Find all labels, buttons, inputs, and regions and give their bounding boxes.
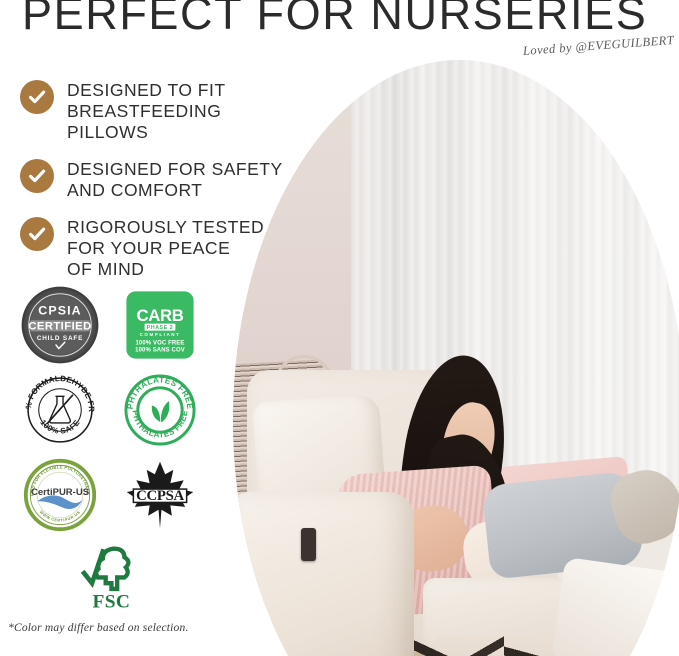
svg-text:CCPSA: CCPSA: [136, 488, 184, 504]
svg-text:100% SANS COV: 100% SANS COV: [135, 347, 185, 353]
throw-white: [552, 557, 673, 656]
feature-list: DESIGNED TO FIT BREASTFEEDING PILLOWS DE…: [20, 78, 290, 294]
svg-text:COMPLIANT: COMPLIANT: [140, 332, 181, 337]
svg-text:PHTHALATES FREE: PHTHALATES FREE: [126, 375, 195, 409]
recliner-mechanism-right: [504, 614, 549, 656]
carb-phase-2-badge: CARB PHASE 2 COMPLIANT 100% VOC FREE 100…: [110, 290, 210, 360]
svg-text:PHTHALATES FREE: PHTHALATES FREE: [130, 409, 189, 439]
cpsia-certified-badge: CPSIA CERTIFIED CHILD SAFE: [10, 285, 110, 365]
certipur-us-badge: CERTIFIED FOR FLEXIBLE POLYURETHANE FOAM…: [10, 457, 110, 533]
svg-text:CHILD SAFE: CHILD SAFE: [37, 335, 83, 342]
ccpsa-badge: CCPSA: [110, 458, 210, 532]
recliner-power-button: [301, 528, 316, 561]
feature-label: DESIGNED FOR SAFETY AND COMFORT: [67, 157, 283, 201]
svg-text:CertiPUR-US: CertiPUR-US: [31, 487, 89, 498]
photo-canvas: [233, 60, 679, 656]
certification-badges: CPSIA CERTIFIED CHILD SAFE CARB PHASE 2 …: [10, 282, 210, 615]
feature-item: DESIGNED FOR SAFETY AND COMFORT: [20, 157, 290, 201]
check-icon: [20, 80, 54, 114]
feature-item: RIGOROUSLY TESTED FOR YOUR PEACE OF MIND: [20, 215, 290, 280]
svg-text:CERTIFIED: CERTIFIED: [28, 320, 91, 332]
nursery-lifestyle-photo: [233, 60, 679, 656]
page-title: PERFECT FOR NURSERIES: [22, 0, 647, 40]
recliner-armrest: [233, 492, 414, 656]
check-icon: [20, 217, 54, 251]
svg-text:CARB: CARB: [136, 305, 183, 324]
svg-text:CPSIA: CPSIA: [38, 303, 81, 317]
fsc-badge: FSC: [60, 540, 160, 612]
badge-row: 100% FORMALDEHYDE FREE 100% SAFE: [10, 367, 210, 452]
recliner-mechanism: [414, 622, 504, 656]
feature-item: DESIGNED TO FIT BREASTFEEDING PILLOWS: [20, 78, 290, 143]
promo-banner: PERFECT FOR NURSERIES Loved by @EVEGUILB…: [0, 0, 679, 656]
svg-text:100% VOC FREE: 100% VOC FREE: [135, 340, 184, 346]
badge-row: FSC: [10, 537, 210, 615]
svg-text:100% FORMALDEHYDE FREE: 100% FORMALDEHYDE FREE: [22, 372, 96, 412]
phthalates-free-badge: PHTHALATES FREE PHTHALATES FREE: [110, 373, 210, 447]
feature-label: DESIGNED TO FIT BREASTFEEDING PILLOWS: [67, 78, 290, 143]
svg-text:PHASE 2: PHASE 2: [147, 325, 173, 331]
svg-text:100% SAFE: 100% SAFE: [38, 418, 82, 436]
badge-row: CPSIA CERTIFIED CHILD SAFE CARB PHASE 2 …: [10, 282, 210, 367]
svg-text:FSC: FSC: [93, 592, 131, 612]
formaldehyde-free-badge: 100% FORMALDEHYDE FREE 100% SAFE: [10, 372, 110, 448]
badge-row: CERTIFIED FOR FLEXIBLE POLYURETHANE FOAM…: [10, 452, 210, 537]
feature-label: RIGOROUSLY TESTED FOR YOUR PEACE OF MIND: [67, 215, 264, 280]
check-icon: [20, 159, 54, 193]
disclaimer-text: *Color may differ based on selection.: [8, 622, 189, 634]
